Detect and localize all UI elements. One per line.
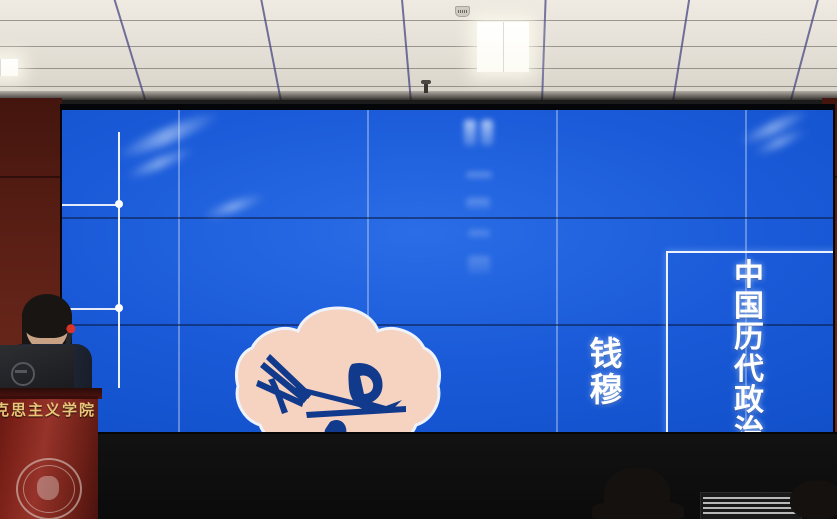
- title-char: 治: [722, 416, 776, 432]
- bird-medallion-illustration: [234, 302, 442, 432]
- presenter-hair: [22, 294, 72, 338]
- title-char: 代: [722, 354, 776, 385]
- timeline-vertical-line: [118, 132, 120, 388]
- lecture-hall-scene: 钱 穆 中 国 历 代 政 治 得 失 汇报人：24行管孔妍 汇报时间：2025…: [0, 0, 837, 519]
- ceiling: [0, 0, 837, 100]
- slide-title-vertical: 中 国 历 代 政 治 得 失: [722, 260, 776, 432]
- author-char: 钱: [579, 338, 633, 374]
- title-char: 政: [722, 385, 776, 416]
- video-wall: 钱 穆 中 国 历 代 政 治 得 失 汇报人：24行管孔妍 汇报时间：2025…: [60, 104, 835, 434]
- audience-head-2: [790, 480, 837, 519]
- audience-shoulder: [592, 500, 684, 519]
- presentation-slide: 钱 穆 中 国 历 代 政 治 得 失 汇报人：24行管孔妍 汇报时间：2025…: [62, 110, 833, 432]
- timeline-node: [115, 304, 123, 312]
- wall-vent-grille: [700, 492, 802, 519]
- author-char: 穆: [579, 374, 633, 410]
- title-char: 历: [722, 322, 776, 353]
- podium-institution-label: 克思主义学院: [0, 399, 94, 421]
- timeline-node: [115, 200, 123, 208]
- ceiling-light-panel-left: [0, 59, 18, 76]
- slide-author-name: 钱 穆: [579, 338, 633, 409]
- title-char: 国: [722, 291, 776, 322]
- university-emblem: [16, 458, 82, 519]
- ceiling-light-panel: [477, 22, 529, 72]
- smoke-detector-icon: [455, 6, 470, 17]
- title-char: 中: [722, 260, 776, 291]
